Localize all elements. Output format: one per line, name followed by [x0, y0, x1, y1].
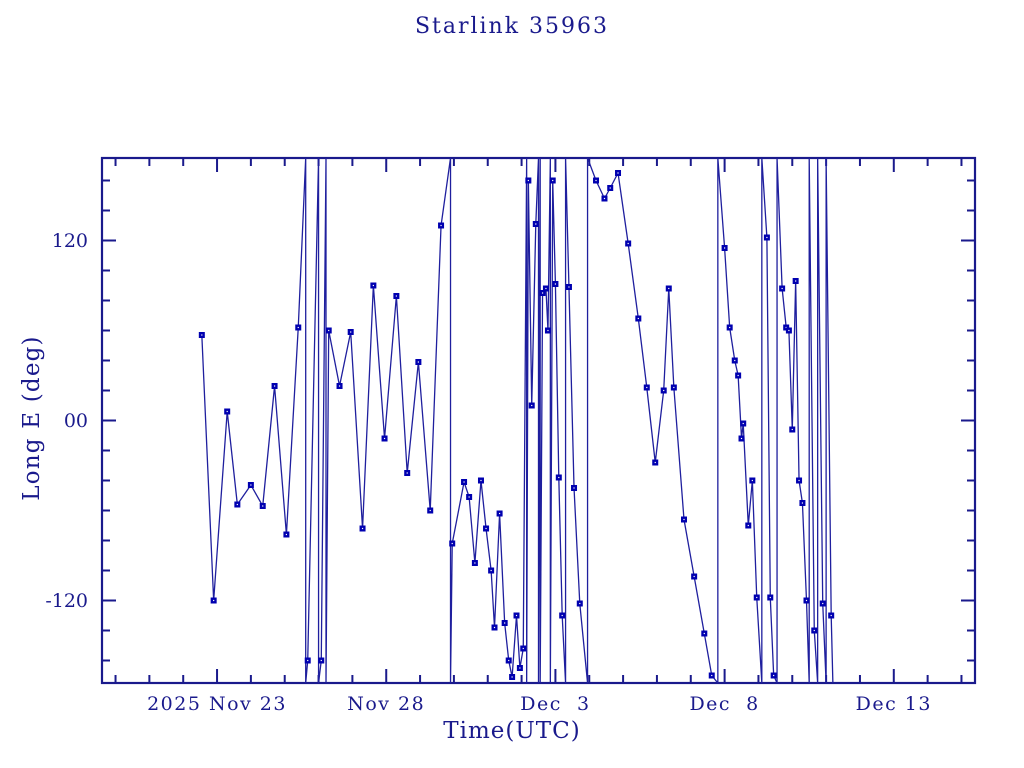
data-point-center [418, 361, 419, 362]
data-point-center [831, 615, 832, 616]
data-point-center [734, 360, 735, 361]
data-point-center [286, 534, 287, 535]
data-point-center [469, 496, 470, 497]
data-point-center [738, 375, 739, 376]
data-point-center [822, 603, 823, 604]
data-point-center [573, 487, 574, 488]
series-clip-group [199, 158, 834, 683]
data-point-center [508, 660, 509, 661]
series-line [202, 158, 833, 683]
data-point-center [262, 505, 263, 506]
data-point-center [440, 225, 441, 226]
data-point-center [711, 675, 712, 676]
x-tick-label: Dec 13 [764, 693, 1024, 715]
data-point-center [814, 630, 815, 631]
data-point-center [792, 429, 793, 430]
data-point-center [806, 600, 807, 601]
data-point-center [628, 243, 629, 244]
plot-page: Starlink 35963 Long E (deg) Time(UTC) 12… [0, 0, 1024, 768]
data-point-center [802, 502, 803, 503]
data-point-center [237, 504, 238, 505]
data-point-center [512, 676, 513, 677]
data-point-center [528, 180, 529, 181]
data-point-center [519, 667, 520, 668]
data-point-center [250, 484, 251, 485]
data-point-center [545, 288, 546, 289]
data-point-center [752, 480, 753, 481]
data-point-center [579, 603, 580, 604]
data-point-center [384, 438, 385, 439]
y-tick-label: -120 [0, 590, 88, 612]
data-point-center [568, 286, 569, 287]
data-point-center [668, 288, 669, 289]
data-point-center [542, 292, 543, 293]
data-point-center [463, 481, 464, 482]
data-point-center [562, 615, 563, 616]
data-point-center [452, 543, 453, 544]
data-point-center [798, 480, 799, 481]
data-point-center [362, 528, 363, 529]
data-point-center [782, 288, 783, 289]
data-point-center [558, 477, 559, 478]
data-point-center [485, 528, 486, 529]
data-point-center [531, 405, 532, 406]
data-point-center [407, 472, 408, 473]
longitude-drift-chart [0, 0, 1024, 768]
data-point-center [663, 390, 664, 391]
data-point-center [516, 615, 517, 616]
data-point-center [770, 597, 771, 598]
data-point-center [494, 627, 495, 628]
data-point-center [328, 330, 329, 331]
data-point-center [474, 562, 475, 563]
y-tick-label: 00 [0, 410, 88, 432]
data-point-center [604, 198, 605, 199]
y-tick-label: 120 [0, 230, 88, 252]
data-point-center [339, 385, 340, 386]
data-point-center [504, 622, 505, 623]
data-point-center [595, 180, 596, 181]
data-point-center [617, 172, 618, 173]
data-point-center [491, 570, 492, 571]
data-point-center [655, 462, 656, 463]
data-point-center [704, 633, 705, 634]
data-point-center [396, 295, 397, 296]
data-point-center [673, 387, 674, 388]
data-series-longitude [199, 158, 834, 683]
data-point-center [795, 280, 796, 281]
data-point-center [773, 675, 774, 676]
data-point-center [430, 510, 431, 511]
data-point-center [547, 330, 548, 331]
data-point-center [555, 283, 556, 284]
data-point-center [788, 330, 789, 331]
data-point-center [321, 660, 322, 661]
data-point-center [646, 387, 647, 388]
data-point-center [724, 247, 725, 248]
data-point-center [499, 513, 500, 514]
data-point-center [373, 285, 374, 286]
data-point-center [729, 327, 730, 328]
data-point-center [535, 223, 536, 224]
data-point-center [552, 180, 553, 181]
data-point-center [610, 187, 611, 188]
data-point-center [638, 318, 639, 319]
data-point-center [766, 237, 767, 238]
data-point-center [201, 334, 202, 335]
data-point-center [307, 660, 308, 661]
data-point-center [743, 423, 744, 424]
data-point-center [683, 519, 684, 520]
data-point-center [748, 525, 749, 526]
data-point-center [480, 480, 481, 481]
data-point-center [274, 385, 275, 386]
data-point-center [298, 327, 299, 328]
data-point-center [350, 331, 351, 332]
data-point-center [523, 648, 524, 649]
data-point-center [227, 411, 228, 412]
data-point-center [741, 438, 742, 439]
data-point-center [694, 576, 695, 577]
data-point-center [756, 597, 757, 598]
data-point-center [213, 600, 214, 601]
